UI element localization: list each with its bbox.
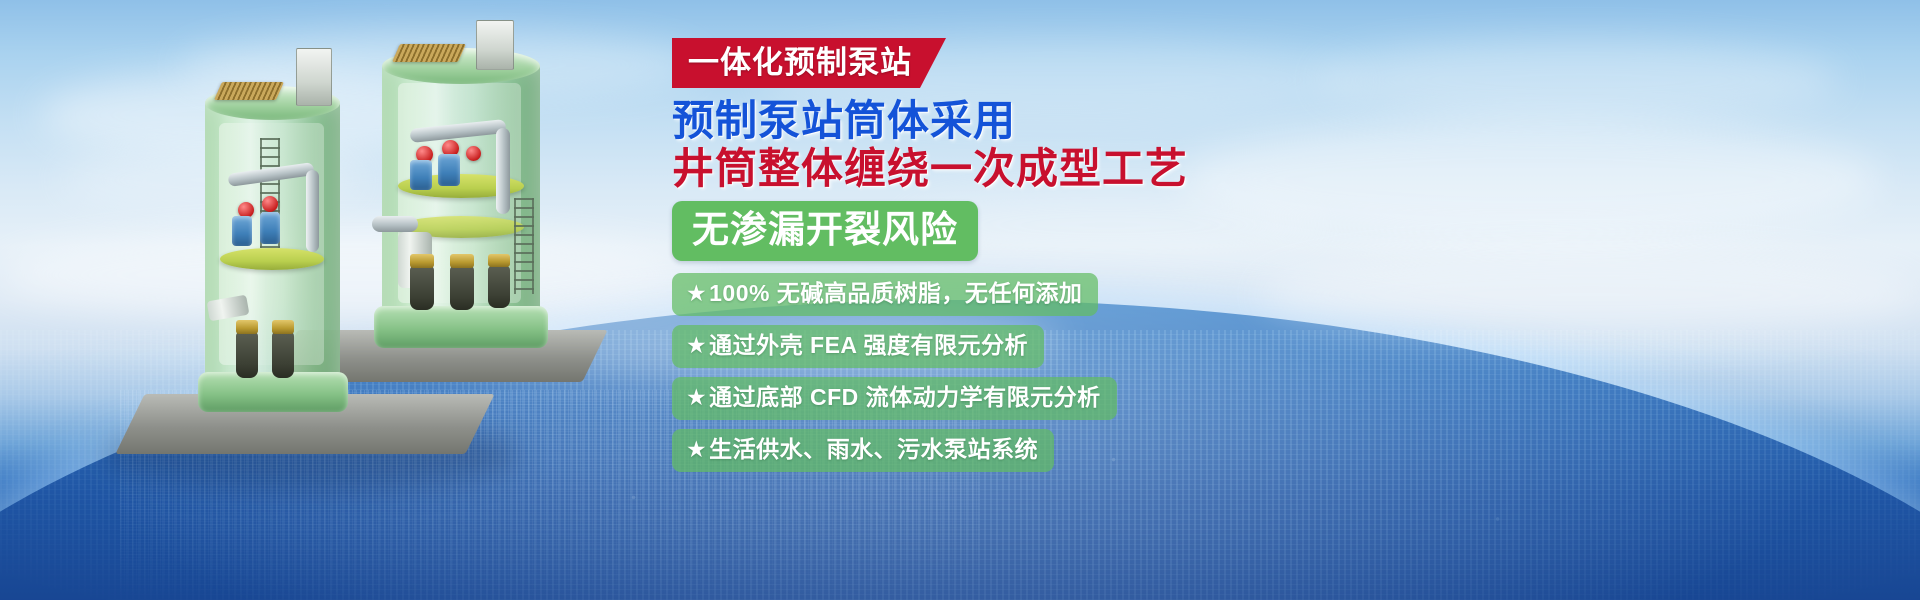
feature-item: ★100% 无碱高品质树脂，无任何添加 [672,273,1098,316]
valve-actuator-left-2 [260,212,280,244]
headline-primary: 预制泵站筒体采用 [672,97,1772,145]
grating-right [392,44,466,62]
inlet-pipe-right [372,216,418,232]
riser-pipe-right [496,128,510,214]
submersible-pump-right-1 [410,266,434,310]
feature-item-label: 通过底部 CFD 流体动力学有限元分析 [709,384,1101,410]
pump-cap-right-3 [488,254,510,267]
grating-left [214,82,284,100]
feature-item-label: 生活供水、雨水、污水泵站系统 [709,436,1038,462]
pump-cap-right-1 [410,254,434,268]
star-icon: ★ [686,384,707,410]
pump-cap-right-2 [450,254,474,268]
pump-cap-left-1 [236,320,258,334]
headline-secondary: 井筒整体缠绕一次成型工艺 [672,145,1772,193]
internal-deck-left [220,248,324,270]
star-icon: ★ [686,436,707,462]
feature-list: ★100% 无碱高品质树脂，无任何添加 ★通过外壳 FEA 强度有限元分析 ★通… [672,273,1772,472]
submersible-pump-left-1 [236,332,258,378]
marketing-copy: 一体化预制泵站 预制泵站筒体采用 井筒整体缠绕一次成型工艺 无渗漏开裂风险 ★1… [672,38,1772,481]
star-icon: ★ [686,280,707,306]
feature-item-label: 100% 无碱高品质树脂，无任何添加 [709,280,1082,306]
submersible-pump-left-2 [272,332,294,378]
tank-base-ring-right [374,306,548,348]
star-icon: ★ [686,332,707,358]
valve-actuator-right-2 [438,154,460,186]
submersible-pump-right-3 [488,266,510,308]
ladder-right [514,198,534,294]
pump-cap-left-2 [272,320,294,334]
submersible-pump-right-2 [450,266,474,310]
riser-pipe-left [306,170,319,252]
access-hatch-right [476,20,514,70]
valve-right-3 [466,146,481,161]
feature-item: ★通过底部 CFD 流体动力学有限元分析 [672,377,1117,420]
valve-actuator-left-1 [232,216,252,246]
access-hatch-left [296,48,332,106]
feature-item: ★生活供水、雨水、污水泵站系统 [672,429,1054,472]
highlight-badge: 无渗漏开裂风险 [672,201,978,261]
feature-item: ★通过外壳 FEA 强度有限元分析 [672,325,1044,368]
promo-banner: 一体化预制泵站 预制泵站筒体采用 井筒整体缠绕一次成型工艺 无渗漏开裂风险 ★1… [0,0,1920,600]
valve-left-2 [262,196,278,212]
tank-base-ring-left [198,372,348,412]
feature-item-label: 通过外壳 FEA 强度有限元分析 [709,332,1028,358]
product-category-tag: 一体化预制泵站 [672,38,946,88]
product-illustration [110,20,670,490]
valve-actuator-right-1 [410,160,432,190]
